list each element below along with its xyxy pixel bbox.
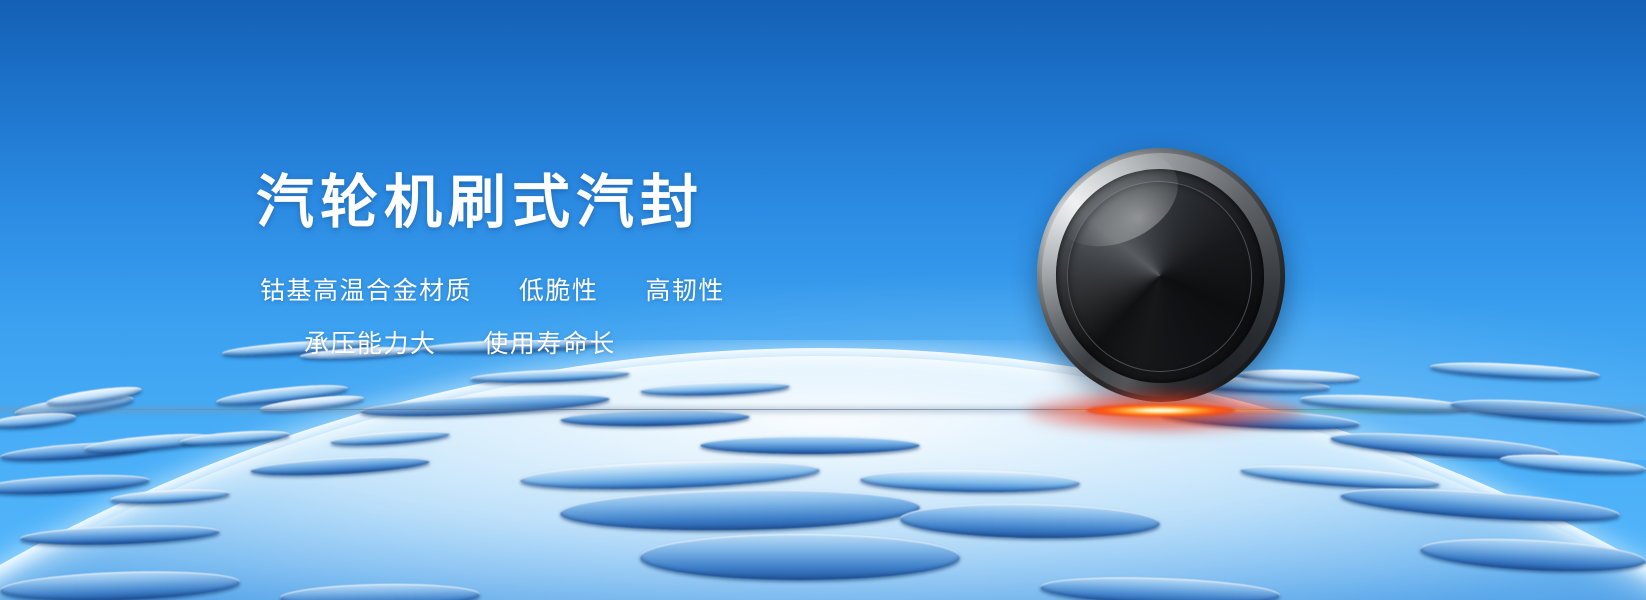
banner-headline: 汽轮机刷式汽封 — [256, 172, 956, 234]
continent-shape — [700, 436, 920, 454]
earth-globe — [0, 340, 1646, 600]
feature-item: 钴基高温合金材质 — [260, 277, 472, 305]
feature-item: 承压能力大 — [304, 330, 437, 358]
continent-shape — [640, 534, 960, 580]
feature-line-2: 承压能力大 使用寿命长 — [256, 329, 956, 359]
feature-item: 使用寿命长 — [483, 330, 616, 358]
continent-shape — [180, 428, 291, 448]
continent-shape — [1430, 360, 1600, 383]
continent-shape — [1500, 451, 1646, 477]
hero-banner: 汽轮机刷式汽封 钴基高温合金材质 低脆性 高韧性 承压能力大 使用寿命长 — [0, 0, 1646, 600]
banner-copy: 汽轮机刷式汽封 钴基高温合金材质 低脆性 高韧性 承压能力大 使用寿命长 — [256, 172, 956, 359]
red-flare-core — [1086, 404, 1236, 417]
product-ring-image[interactable] — [1037, 148, 1285, 402]
feature-item: 高韧性 — [645, 277, 725, 305]
feature-line-1: 钴基高温合金材质 低脆性 高韧性 — [256, 276, 956, 306]
feature-item: 低脆性 — [519, 277, 599, 305]
